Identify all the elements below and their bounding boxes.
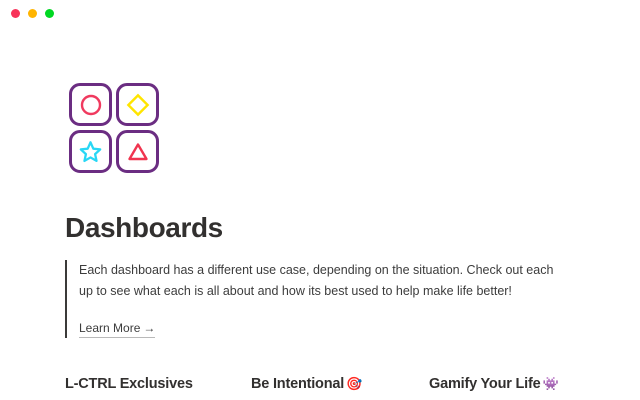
icon-cell-circle[interactable] [69,83,112,126]
section-heading-be-intentional[interactable]: Be Intentional🎯 [251,376,429,392]
section-title: L-CTRL Exclusives [65,376,193,392]
hero-description: Each dashboard has a different use case,… [79,260,565,302]
triangle-shape-icon [126,140,150,164]
section-heading-gamify-your-life[interactable]: Gamify Your Life👾 [429,376,620,392]
star-shape-icon [78,139,103,164]
circle-shape-icon [79,93,103,117]
window-maximize-button[interactable] [45,9,54,18]
learn-more-label: Learn More [79,321,140,335]
icon-cell-star[interactable] [69,130,112,173]
section-headings-row: L-CTRL Exclusives Be Intentional🎯 Gamify… [0,376,640,392]
hero-quote-block: Each dashboard has a different use case,… [65,260,565,338]
diamond-shape-icon [126,93,150,117]
dartboard-icon: 🎯 [344,376,362,391]
window-titlebar [0,0,640,26]
section-heading-l-ctrl-exclusives[interactable]: L-CTRL Exclusives [65,376,251,392]
window-close-button[interactable] [11,9,20,18]
icon-cell-triangle[interactable] [116,130,159,173]
page-title: Dashboards [65,213,616,244]
section-title: Be Intentional [251,376,344,392]
learn-more-link[interactable]: Learn More→ [79,321,155,338]
section-title: Gamify Your Life [429,376,540,392]
dashboards-icon-grid [69,83,159,173]
arrow-right-icon: → [140,321,155,335]
icon-cell-diamond[interactable] [116,83,159,126]
window-minimize-button[interactable] [28,9,37,18]
alien-monster-icon: 👾 [540,376,558,391]
page-content: Dashboards Each dashboard has a differen… [0,83,640,338]
